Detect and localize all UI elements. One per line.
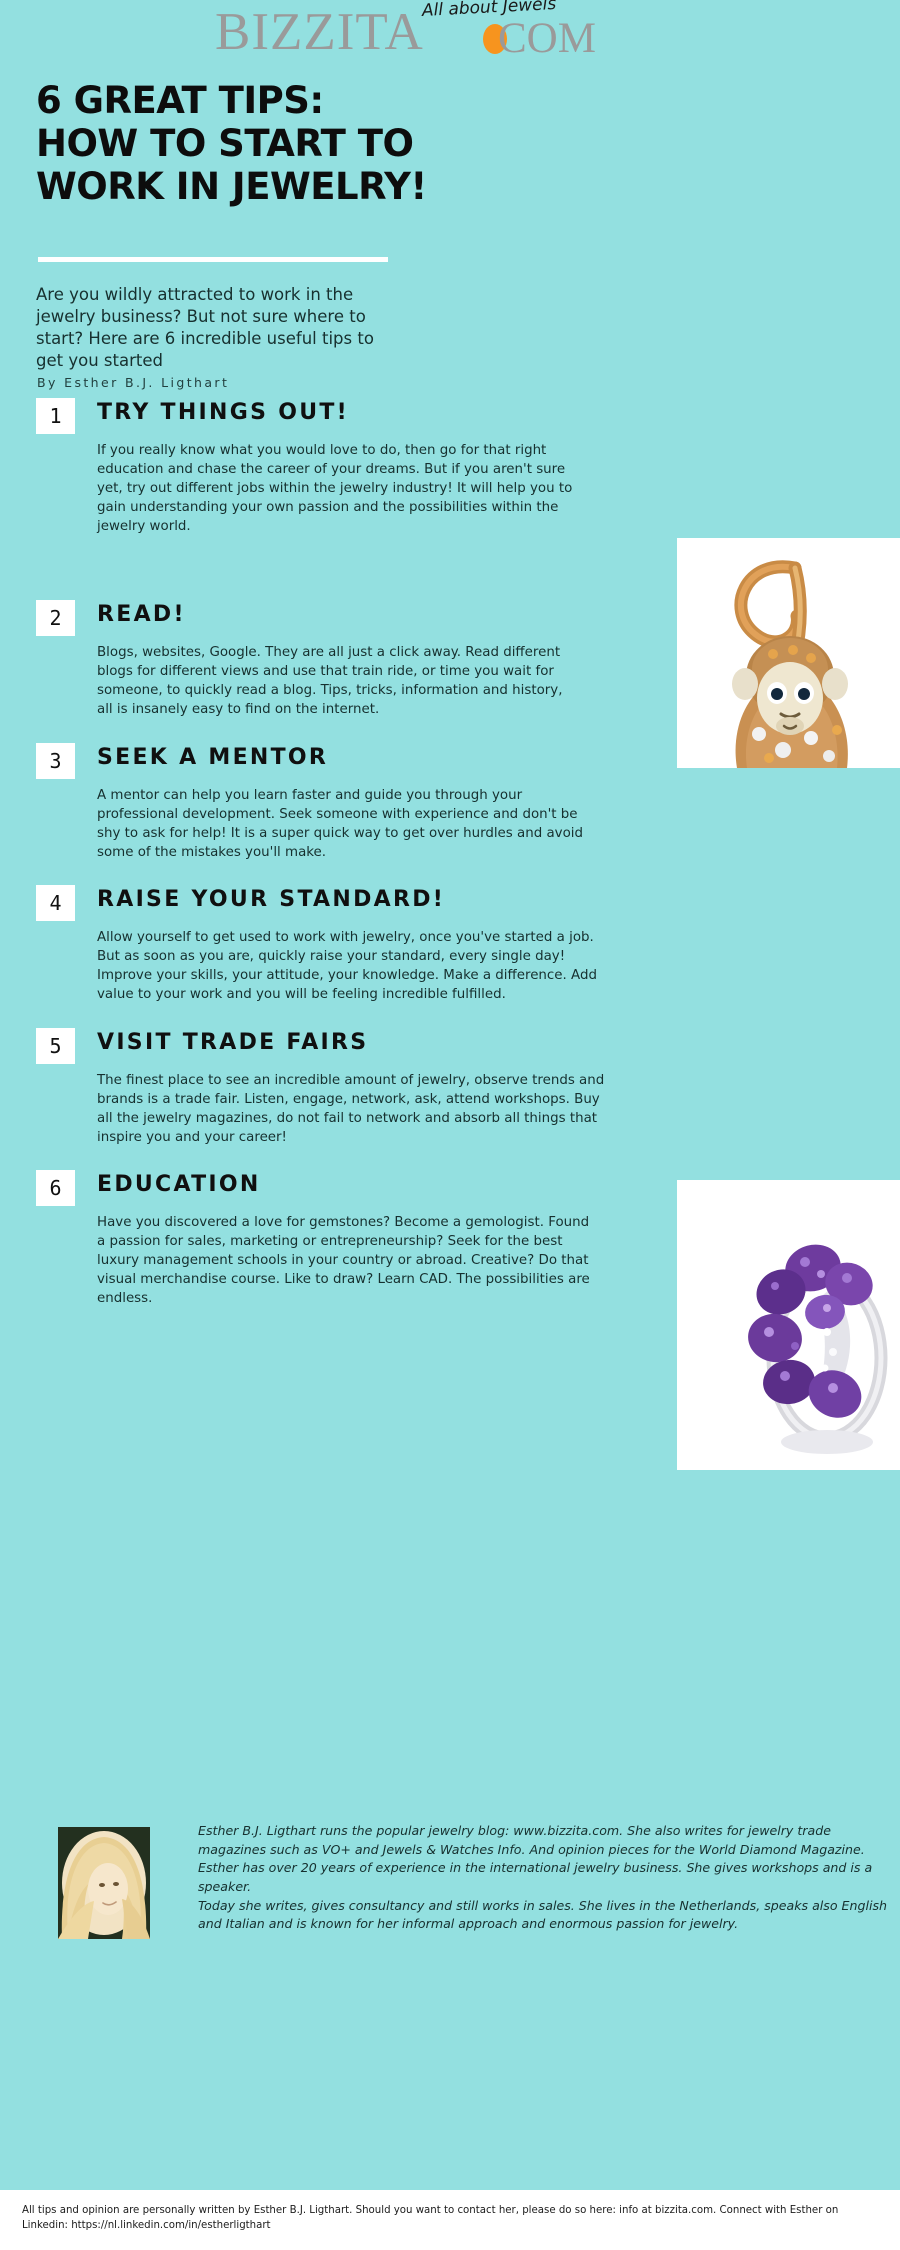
tip-body: A mentor can help you learn faster and g… bbox=[97, 786, 597, 862]
tip-body: Allow yourself to get used to work with … bbox=[97, 928, 597, 1004]
amethyst-ring-illustration bbox=[677, 1180, 900, 1470]
tip-number-badge: 4 bbox=[36, 885, 75, 921]
intro-paragraph: Are you wildly attracted to work in the … bbox=[36, 284, 396, 372]
tip-heading: SEEK A MENTOR bbox=[97, 745, 328, 770]
tip-number-badge: 2 bbox=[36, 600, 75, 636]
author-portrait-illustration bbox=[58, 1827, 150, 1939]
tip-number-badge: 3 bbox=[36, 743, 75, 779]
bio-paragraph-2: Today she writes, gives consultancy and … bbox=[198, 1897, 888, 1934]
tip-body: Have you discovered a love for gemstones… bbox=[97, 1213, 597, 1308]
tip-heading: READ! bbox=[97, 602, 186, 627]
title-line-1: 6 GREAT TIPS: bbox=[36, 80, 656, 123]
author-bio: Esther B.J. Ligthart runs the popular je… bbox=[198, 1822, 888, 1934]
amethyst-ring-image bbox=[677, 1180, 900, 1470]
tip-heading: VISIT TRADE FAIRS bbox=[97, 1030, 368, 1055]
title-divider bbox=[38, 257, 388, 262]
logo-tld: COM bbox=[498, 17, 596, 60]
monkey-brooch-image bbox=[677, 538, 900, 768]
tip-number-badge: 5 bbox=[36, 1028, 75, 1064]
page-title: 6 GREAT TIPS: HOW TO START TO WORK IN JE… bbox=[36, 80, 656, 209]
tip-body: If you really know what you would love t… bbox=[97, 441, 577, 536]
bio-paragraph-1: Esther B.J. Ligthart runs the popular je… bbox=[198, 1822, 888, 1897]
tip-body: Blogs, websites, Google. They are all ju… bbox=[97, 643, 577, 719]
byline: By Esther B.J. Ligthart bbox=[37, 375, 229, 390]
tip-heading: TRY THINGS OUT! bbox=[97, 400, 349, 425]
tip-body: The finest place to see an incredible am… bbox=[97, 1071, 607, 1147]
tip-heading: EDUCATION bbox=[97, 1172, 261, 1197]
site-logo[interactable]: BIZZITA COM All about Jewels bbox=[215, 4, 715, 66]
footer-note: All tips and opinion are personally writ… bbox=[22, 2203, 882, 2234]
title-line-3: WORK IN JEWELRY! bbox=[36, 166, 656, 209]
tip-number-badge: 6 bbox=[36, 1170, 75, 1206]
logo-wordmark: BIZZITA bbox=[215, 6, 424, 59]
author-portrait bbox=[58, 1827, 150, 1939]
tip-heading: RAISE YOUR STANDARD! bbox=[97, 887, 445, 912]
infographic-page: BIZZITA COM All about Jewels 6 GREAT TIP… bbox=[0, 0, 900, 2250]
tip-number-badge: 1 bbox=[36, 398, 75, 434]
title-line-2: HOW TO START TO bbox=[36, 123, 656, 166]
monkey-brooch-illustration bbox=[677, 538, 900, 768]
